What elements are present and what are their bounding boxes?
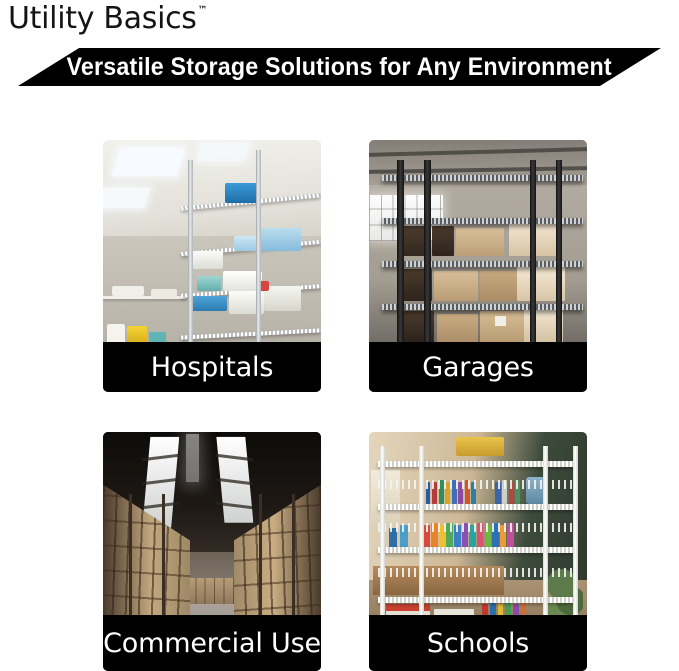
headline-banner: Versatile Storage Solutions for Any Envi… xyxy=(18,48,661,86)
hospitals-caption-bar: Hospitals xyxy=(103,342,321,392)
schools-caption-bar: Schools xyxy=(369,615,587,671)
headline-text: Versatile Storage Solutions for Any Envi… xyxy=(67,54,612,80)
commercial-use-caption-bar: Commercial Use xyxy=(103,615,321,671)
brand-name: Utility Basics xyxy=(8,2,197,36)
tile-schools[interactable]: Schools xyxy=(369,432,587,671)
hospitals-caption-label: Hospitals xyxy=(151,352,273,383)
trademark-symbol: ™ xyxy=(198,5,208,17)
tile-hospitals[interactable]: Hospitals xyxy=(103,140,321,392)
garages-caption-label: Garages xyxy=(422,352,534,383)
tile-commercial-use[interactable]: Commercial Use xyxy=(103,432,321,671)
garages-caption-bar: Garages xyxy=(369,342,587,392)
commercial-use-caption-label: Commercial Use xyxy=(103,628,321,659)
brand-logo: Utility Basics ™ xyxy=(8,2,208,42)
tile-garages[interactable]: Garages xyxy=(369,140,587,392)
application-tile-grid: Hospitals Garages xyxy=(0,140,679,671)
schools-caption-label: Schools xyxy=(427,628,529,659)
